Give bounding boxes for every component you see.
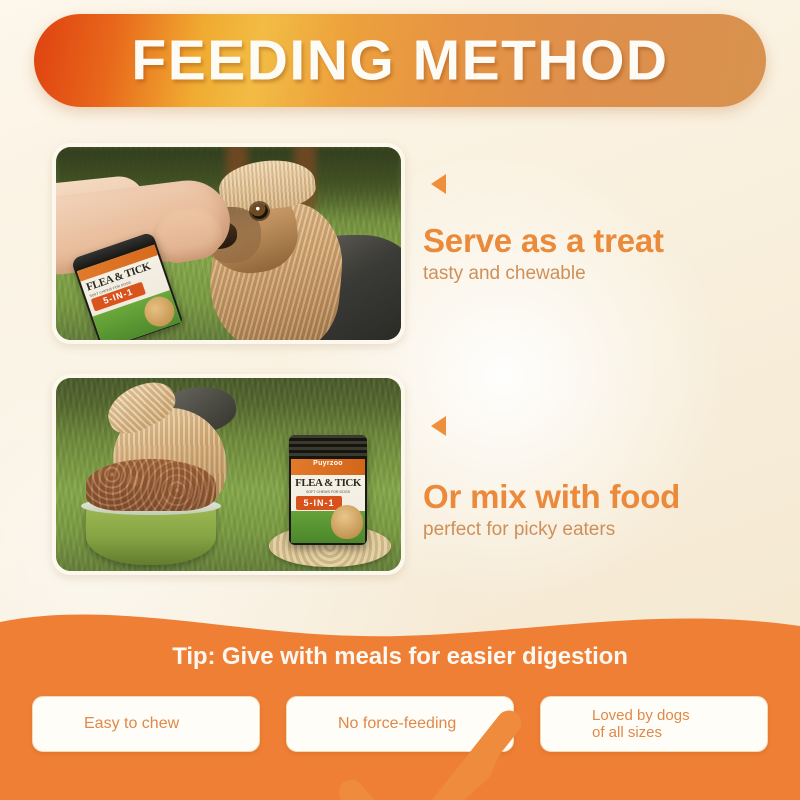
check-icon bbox=[555, 711, 581, 737]
dog-eye bbox=[251, 203, 268, 219]
step-headline: Serve as a treat bbox=[423, 224, 664, 259]
jar-lid bbox=[289, 435, 367, 459]
step-row-1: FLEA & TICK SOFT CHEWS FOR DOGS 5-IN-1 S… bbox=[52, 143, 664, 344]
left-triangle-icon bbox=[431, 416, 446, 436]
step-row-2: Puyrzoo FLEA & TICK SOFT CHEWS FOR DOGS … bbox=[52, 374, 680, 575]
jar-brand: Puyrzoo bbox=[291, 460, 365, 467]
feature-badge-loved-by-dogs[interactable]: Loved by dogs of all sizes bbox=[540, 696, 768, 752]
kibble-pile bbox=[86, 459, 216, 511]
footer-content: Tip: Give with meals for easier digestio… bbox=[0, 600, 800, 800]
header-banner: FEEDING METHOD bbox=[0, 0, 800, 125]
jar-label: Puyrzoo FLEA & TICK SOFT CHEWS FOR DOGS … bbox=[291, 459, 365, 543]
jar-subtitle: SOFT CHEWS FOR DOGS bbox=[291, 490, 365, 494]
product-jar: Puyrzoo FLEA & TICK SOFT CHEWS FOR DOGS … bbox=[289, 435, 367, 545]
tip-text: Tip: Give with meals for easier digestio… bbox=[0, 643, 800, 671]
feature-badge-list: Easy to chew No force-feeding Loved by d… bbox=[32, 696, 768, 752]
header-banner-pill: FEEDING METHOD bbox=[34, 14, 766, 107]
dog-eating-from-bowl-photo: Puyrzoo FLEA & TICK SOFT CHEWS FOR DOGS … bbox=[56, 378, 401, 571]
step-subline: perfect for picky eaters bbox=[423, 519, 680, 542]
page-title: FEEDING METHOD bbox=[34, 32, 766, 89]
photo-frame-1: FLEA & TICK SOFT CHEWS FOR DOGS 5-IN-1 bbox=[52, 143, 405, 344]
step-headline: Or mix with food bbox=[423, 480, 680, 515]
left-triangle-icon bbox=[431, 174, 446, 194]
jar-badge: 5-IN-1 bbox=[296, 496, 342, 510]
jar-title: FLEA & TICK bbox=[291, 477, 365, 489]
feeding-method-infographic: FEEDING METHOD bbox=[0, 0, 800, 800]
hand-feeding-dog-photo: FLEA & TICK SOFT CHEWS FOR DOGS 5-IN-1 bbox=[56, 147, 401, 340]
step-text-2: Or mix with food perfect for picky eater… bbox=[423, 374, 680, 541]
step-text-1: Serve as a treat tasty and chewable bbox=[423, 143, 664, 285]
jar-brand-band: Puyrzoo bbox=[291, 459, 365, 475]
photo-frame-2: Puyrzoo FLEA & TICK SOFT CHEWS FOR DOGS … bbox=[52, 374, 405, 575]
step-subline: tasty and chewable bbox=[423, 263, 664, 286]
jar-dog-photo bbox=[331, 505, 363, 539]
footer-band: Tip: Give with meals for easier digestio… bbox=[0, 600, 800, 800]
